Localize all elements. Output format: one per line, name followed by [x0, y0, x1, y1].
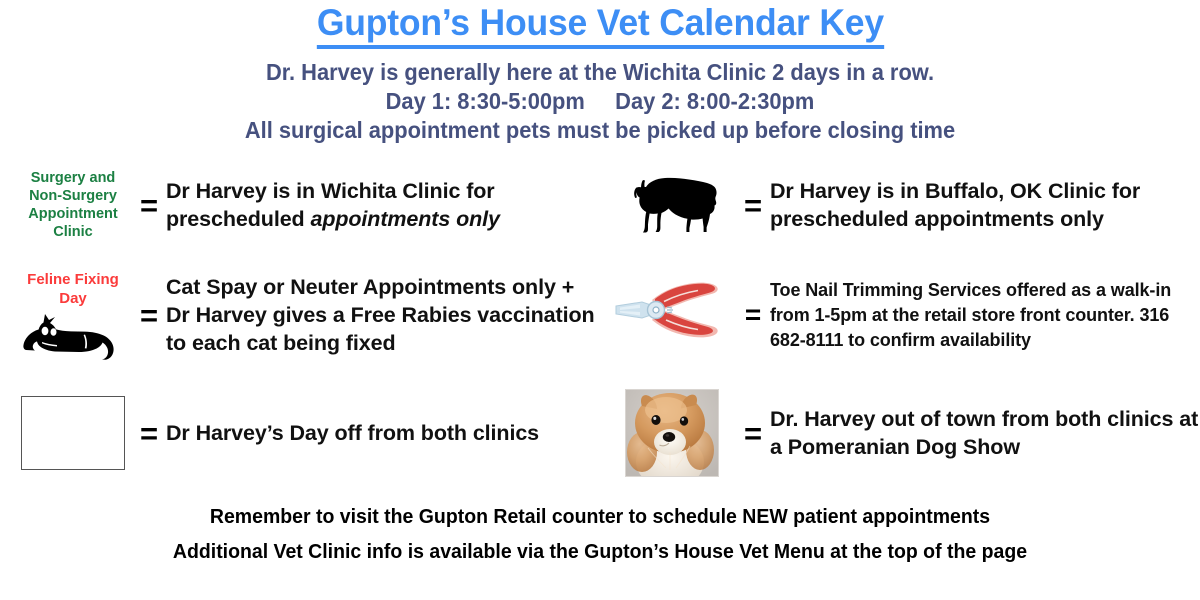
legend-item-wichita-clinic: Surgery and Non-Surgery Appointment Clin…	[0, 159, 600, 251]
empty-box-swatch	[14, 396, 132, 470]
cat-icon	[19, 312, 127, 360]
legend-description-nail-trim: Toe Nail Trimming Services offered as a …	[770, 278, 1200, 353]
surgery-clinic-label-text: Surgery and Non-Surgery Appointment Clin…	[14, 169, 132, 241]
equals-sign: =	[736, 418, 770, 449]
legend-description-day-off: Dr Harvey’s Day off from both clinics	[166, 419, 539, 447]
equals-sign: =	[132, 190, 166, 221]
subtitle-line-3: All surgical appointment pets must be pi…	[30, 116, 1170, 145]
feline-fixing-day-label-text: Feline Fixing Day	[14, 270, 132, 308]
pomeranian-photo-swatch	[608, 389, 736, 477]
legend-grid: Surgery and Non-Surgery Appointment Clin…	[0, 159, 1200, 487]
equals-sign: =	[736, 190, 770, 221]
feline-fixing-day-swatch: Feline Fixing Day	[14, 270, 132, 360]
legend-description-dog-show: Dr. Harvey out of town from both clinics…	[770, 405, 1200, 461]
legend-item-day-off: = Dr Harvey’s Day off from both clinics	[0, 379, 600, 487]
legend-item-dog-show: = Dr. Harvey out of town from both clini…	[600, 379, 1200, 487]
footer-line-2: Additional Vet Clinic info is available …	[30, 534, 1170, 569]
equals-sign: =	[736, 301, 770, 329]
nail-clippers-icon	[612, 276, 732, 354]
pomeranian-photo	[625, 389, 719, 477]
buffalo-icon-swatch	[608, 173, 736, 237]
empty-calendar-box-icon	[21, 396, 125, 470]
page-header: Gupton’s House Vet Calendar Key Dr. Harv…	[0, 0, 1200, 145]
equals-sign: =	[132, 418, 166, 449]
legend-item-buffalo-clinic: = Dr Harvey is in Buffalo, OK Clinic for…	[600, 159, 1200, 251]
subtitle-line-2: Day 1: 8:30-5:00pm Day 2: 8:00-2:30pm	[30, 87, 1170, 116]
legend-item-toe-nail-trimming: = Toe Nail Trimming Services offered as …	[600, 251, 1200, 379]
footer-line-1: Remember to visit the Gupton Retail coun…	[30, 499, 1170, 534]
page-footer: Remember to visit the Gupton Retail coun…	[0, 499, 1200, 569]
legend-description-wichita: Dr Harvey is in Wichita Clinic for presc…	[166, 177, 600, 233]
header-subtitle: Dr. Harvey is generally here at the Wich…	[30, 58, 1170, 145]
legend-row: Feline Fixing Day = Cat Spay or Neuter A…	[0, 251, 1200, 379]
buffalo-icon	[622, 173, 722, 237]
equals-sign: =	[132, 300, 166, 331]
pomeranian-dog-image	[626, 390, 718, 476]
legend-row: Surgery and Non-Surgery Appointment Clin…	[0, 159, 1200, 251]
legend-description-buffalo: Dr Harvey is in Buffalo, OK Clinic for p…	[770, 177, 1200, 233]
nail-clippers-swatch	[608, 276, 736, 354]
legend-row: = Dr Harvey’s Day off from both clinics	[0, 379, 1200, 487]
legend-description-feline: Cat Spay or Neuter Appointments only + D…	[166, 273, 600, 357]
subtitle-line-1: Dr. Harvey is generally here at the Wich…	[30, 58, 1170, 87]
page-title: Gupton’s House Vet Calendar Key	[316, 2, 883, 49]
legend-description-wichita-emphasis: appointments only	[310, 207, 499, 231]
surgery-clinic-label-swatch: Surgery and Non-Surgery Appointment Clin…	[14, 169, 132, 241]
legend-item-feline-fixing-day: Feline Fixing Day = Cat Spay or Neuter A…	[0, 251, 600, 379]
